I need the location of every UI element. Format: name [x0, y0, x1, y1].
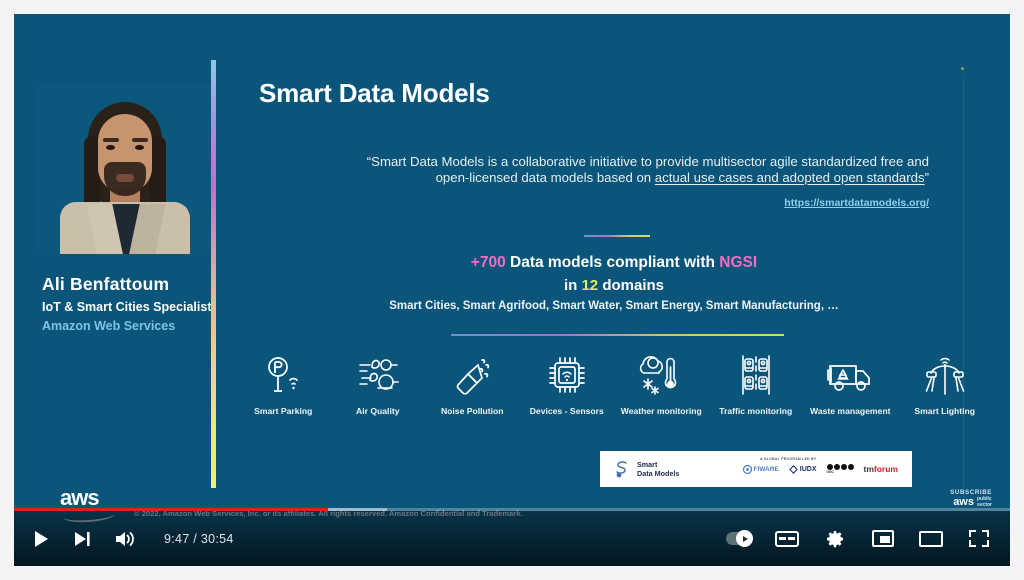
- slide-quote: “Smart Data Models is a collaborative in…: [304, 154, 929, 185]
- partner-logo-ogc: OGC: [827, 464, 854, 474]
- controls-bar: 9:47 / 30:54: [14, 511, 1010, 566]
- presenter-webcam: [36, 84, 212, 254]
- stat-domains-line: in 12 domains: [344, 277, 884, 294]
- tmforum-suffix: forum: [874, 464, 898, 474]
- stat-standard: NGSI: [719, 254, 757, 271]
- sdm-line-1: Smart: [637, 460, 679, 469]
- weather-monitoring-icon: [639, 352, 683, 398]
- partner-label-fiware: FIWARE: [754, 466, 779, 473]
- fullscreen-icon: [969, 530, 989, 547]
- presenter-role: IoT & Smart Cities Specialist: [42, 300, 212, 314]
- partner-logo-iudx: IUDX: [789, 465, 817, 474]
- controls-left-group: 9:47 / 30:54: [28, 526, 234, 552]
- icon-label-smart-parking: Smart Parking: [254, 406, 312, 416]
- icon-cell-noise-pollution: Noise Pollution: [425, 352, 520, 416]
- devices-sensors-icon: [546, 352, 588, 398]
- aws-wordmark: aws: [60, 488, 115, 508]
- play-icon: [33, 530, 50, 548]
- volume-button[interactable]: [112, 526, 138, 552]
- quote-line-2-suffix: ”: [925, 170, 929, 185]
- tmforum-prefix: tm: [864, 464, 874, 474]
- divider-top: [584, 235, 650, 237]
- divider-bottom: [451, 334, 784, 336]
- quote-line-2-prefix: open-licensed data models based on: [436, 170, 655, 185]
- gradient-accent-bar: [211, 60, 216, 488]
- icon-label-noise-pollution: Noise Pollution: [441, 406, 504, 416]
- domains-count: 12: [581, 277, 598, 294]
- presenter-panel: Ali Benfattoum IoT & Smart Cities Specia…: [22, 84, 212, 344]
- slide-title: Smart Data Models: [259, 78, 490, 109]
- noise-pollution-icon: [451, 352, 493, 398]
- subscribe-aws-subtitle: public sector: [977, 497, 992, 508]
- partner-logo-strip: Smart Data Models A GLOBAL PROGRAM LED B…: [600, 451, 912, 487]
- source-url-link[interactable]: https://smartdatamodels.org/: [304, 197, 929, 209]
- icon-label-traffic-monitoring: Traffic monitoring: [719, 406, 792, 416]
- icon-label-air-quality: Air Quality: [356, 406, 399, 416]
- partner-label-iudx: IUDX: [800, 466, 817, 473]
- fullscreen-button[interactable]: [966, 526, 992, 552]
- gear-icon: [825, 529, 845, 549]
- domains-list: Smart Cities, Smart Agrifood, Smart Wate…: [344, 300, 884, 312]
- icon-cell-smart-lighting: Smart Lighting: [898, 352, 993, 416]
- domain-icon-row: Smart Parking: [236, 352, 992, 416]
- quote-line-1: “Smart Data Models is a collaborative in…: [367, 154, 929, 169]
- player-controls[interactable]: 9:47 / 30:54: [14, 508, 1010, 566]
- partner-logos: A GLOBAL PROGRAM LED BY FIWARE IUDX OGC …: [743, 464, 899, 474]
- presenter-mouth: [116, 174, 134, 182]
- traffic-monitoring-icon: [735, 352, 777, 398]
- volume-icon: [114, 530, 136, 548]
- slide-edge-dot: [961, 67, 964, 70]
- air-quality-icon: [356, 352, 400, 398]
- autoplay-toggle-track[interactable]: [726, 532, 752, 545]
- iudx-mark-icon: [789, 465, 798, 474]
- sdm-line-2: Data Models: [637, 469, 679, 478]
- time-display: 9:47 / 30:54: [164, 532, 234, 546]
- fiware-mark-icon: [743, 465, 752, 474]
- video-player[interactable]: Ali Benfattoum IoT & Smart Cities Specia…: [14, 14, 1010, 566]
- icon-cell-air-quality: Air Quality: [331, 352, 426, 416]
- partner-label-ogc: OGC: [827, 470, 854, 474]
- slide-edge-line: [963, 74, 964, 504]
- settings-button[interactable]: [822, 526, 848, 552]
- partner-logo-tmforum: tmforum: [864, 464, 898, 474]
- icon-cell-waste-management: Waste management: [803, 352, 898, 416]
- icon-cell-smart-parking: Smart Parking: [236, 352, 331, 416]
- icon-cell-devices-sensors: Devices - Sensors: [520, 352, 615, 416]
- partner-logo-fiware: FIWARE: [743, 465, 779, 474]
- play-button[interactable]: [28, 526, 54, 552]
- stat-models-line: +700 Data models compliant with NGSI: [344, 254, 884, 272]
- presenter-eye-left: [106, 145, 115, 150]
- controls-right-group: [726, 526, 996, 552]
- icon-cell-weather-monitoring: Weather monitoring: [614, 352, 709, 416]
- smart-parking-icon: [263, 352, 303, 398]
- smart-data-models-logo: Smart Data Models: [614, 460, 679, 479]
- miniplayer-button[interactable]: [870, 526, 896, 552]
- icon-cell-traffic-monitoring: Traffic monitoring: [709, 352, 804, 416]
- presenter-brow-right: [132, 138, 148, 142]
- stat-count: +700: [471, 254, 506, 271]
- autoplay-toggle[interactable]: [726, 526, 752, 552]
- captions-button[interactable]: [774, 526, 800, 552]
- subscribe-badge[interactable]: SUBSCRIBE aws public sector: [950, 489, 992, 508]
- icon-label-smart-lighting: Smart Lighting: [914, 406, 975, 416]
- domains-prefix: in: [564, 277, 582, 294]
- presenter-organization: Amazon Web Services: [42, 319, 175, 333]
- next-video-button[interactable]: [70, 526, 96, 552]
- icon-label-devices-sensors: Devices - Sensors: [530, 406, 604, 416]
- presenter-name: Ali Benfattoum: [42, 274, 169, 295]
- theater-mode-button[interactable]: [918, 526, 944, 552]
- miniplayer-icon: [872, 530, 894, 547]
- stat-mid-text: Data models compliant with: [506, 254, 720, 271]
- subscribe-aws-logo: aws public sector: [950, 497, 992, 508]
- partners-caption: A GLOBAL PROGRAM LED BY: [760, 457, 816, 461]
- presenter-eye-right: [135, 145, 144, 150]
- next-icon: [74, 531, 92, 547]
- quote-underlined-phrase: actual use cases and adopted open standa…: [655, 170, 925, 185]
- smart-data-models-logo-text: Smart Data Models: [637, 460, 679, 478]
- subscribe-label: SUBSCRIBE: [950, 489, 992, 496]
- waste-management-icon: [826, 352, 874, 398]
- icon-label-waste-management: Waste management: [810, 406, 890, 416]
- video-stage[interactable]: Ali Benfattoum IoT & Smart Cities Specia…: [14, 14, 1010, 566]
- captions-icon: [775, 531, 799, 547]
- presenter-brow-left: [103, 138, 119, 142]
- autoplay-toggle-knob: [736, 530, 753, 547]
- page-root: Ali Benfattoum IoT & Smart Cities Specia…: [0, 0, 1024, 580]
- icon-label-weather-monitoring: Weather monitoring: [621, 406, 702, 416]
- smart-data-models-mark-icon: [614, 460, 631, 479]
- smart-lighting-icon: [922, 352, 968, 398]
- domains-suffix: domains: [598, 277, 664, 294]
- theater-mode-icon: [919, 531, 943, 547]
